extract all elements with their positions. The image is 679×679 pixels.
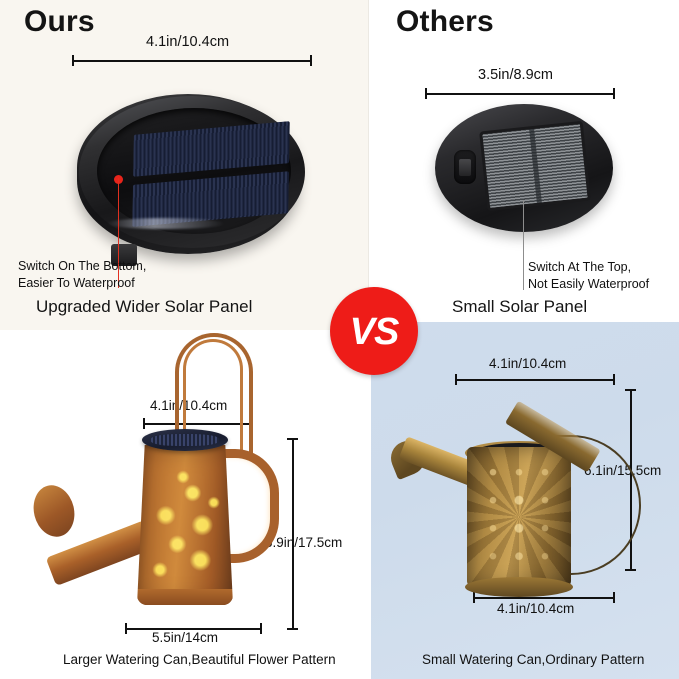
lamp-body bbox=[77, 94, 299, 254]
dimension-label-ours-solar-width: 4.1in/10.4cm bbox=[146, 34, 229, 50]
heading-others: Others bbox=[396, 5, 494, 39]
can-flower-pattern bbox=[137, 445, 233, 605]
lamp-rim-inner bbox=[97, 108, 291, 234]
dimension-line-ours-solar-width bbox=[72, 55, 312, 66]
lamp-glint bbox=[107, 218, 225, 229]
caption-ours-solar-panel: Upgraded Wider Solar Panel bbox=[36, 297, 252, 317]
can-ordinary-pattern bbox=[467, 447, 571, 587]
can-solar-cells bbox=[151, 434, 219, 446]
annotation-ours-line2: Easier To Waterproof bbox=[18, 275, 146, 292]
dimension-line-others-solar-width bbox=[425, 88, 615, 99]
ours-watering-can-image bbox=[20, 333, 320, 633]
solar-panel-cells-others bbox=[479, 121, 591, 211]
annotation-others-line2: Not Easily Waterproof bbox=[528, 276, 649, 293]
annotation-ours-line1: Switch On The Bottom, bbox=[18, 258, 146, 275]
callout-leader-others bbox=[523, 200, 524, 290]
can-base bbox=[137, 589, 233, 605]
caption-others-solar-panel: Small Solar Panel bbox=[452, 297, 587, 317]
can-barrel-others bbox=[467, 447, 571, 587]
others-solar-lamp-image bbox=[435, 100, 615, 240]
dimension-label-others-can-top: 4.1in/10.4cm bbox=[489, 356, 566, 371]
caption-ours-watering-can: Larger Watering Can,Beautiful Flower Pat… bbox=[63, 652, 336, 667]
annotation-others-switch: Switch At The Top, Not Easily Waterproof bbox=[528, 259, 649, 292]
lamp-top-switch bbox=[454, 150, 476, 184]
annotation-others-line1: Switch At The Top, bbox=[528, 259, 649, 276]
ours-solar-lamp-image bbox=[73, 72, 303, 267]
heading-ours: Ours bbox=[24, 5, 95, 39]
solar-panel-cells bbox=[132, 121, 290, 231]
dimension-label-others-solar-width: 3.5in/8.9cm bbox=[478, 67, 553, 83]
vs-badge: VS bbox=[330, 287, 418, 375]
lamp-body-others bbox=[435, 104, 613, 232]
can-spout-head bbox=[28, 481, 79, 541]
vs-label: VS bbox=[350, 313, 399, 351]
can-barrel bbox=[137, 445, 233, 605]
dimension-line-others-can-top bbox=[455, 374, 615, 385]
can-base-others bbox=[465, 577, 573, 597]
comparison-infographic: Ours Others 4.1in/10.4cm Switch On The B… bbox=[0, 0, 679, 679]
annotation-ours-switch: Switch On The Bottom, Easier To Waterpro… bbox=[18, 258, 146, 291]
panel-divider bbox=[368, 0, 369, 322]
others-watering-can-image bbox=[395, 405, 655, 635]
can-side-handle bbox=[224, 449, 279, 563]
can-solar-lid bbox=[142, 429, 228, 451]
caption-others-watering-can: Small Watering Can,Ordinary Pattern bbox=[422, 652, 644, 667]
